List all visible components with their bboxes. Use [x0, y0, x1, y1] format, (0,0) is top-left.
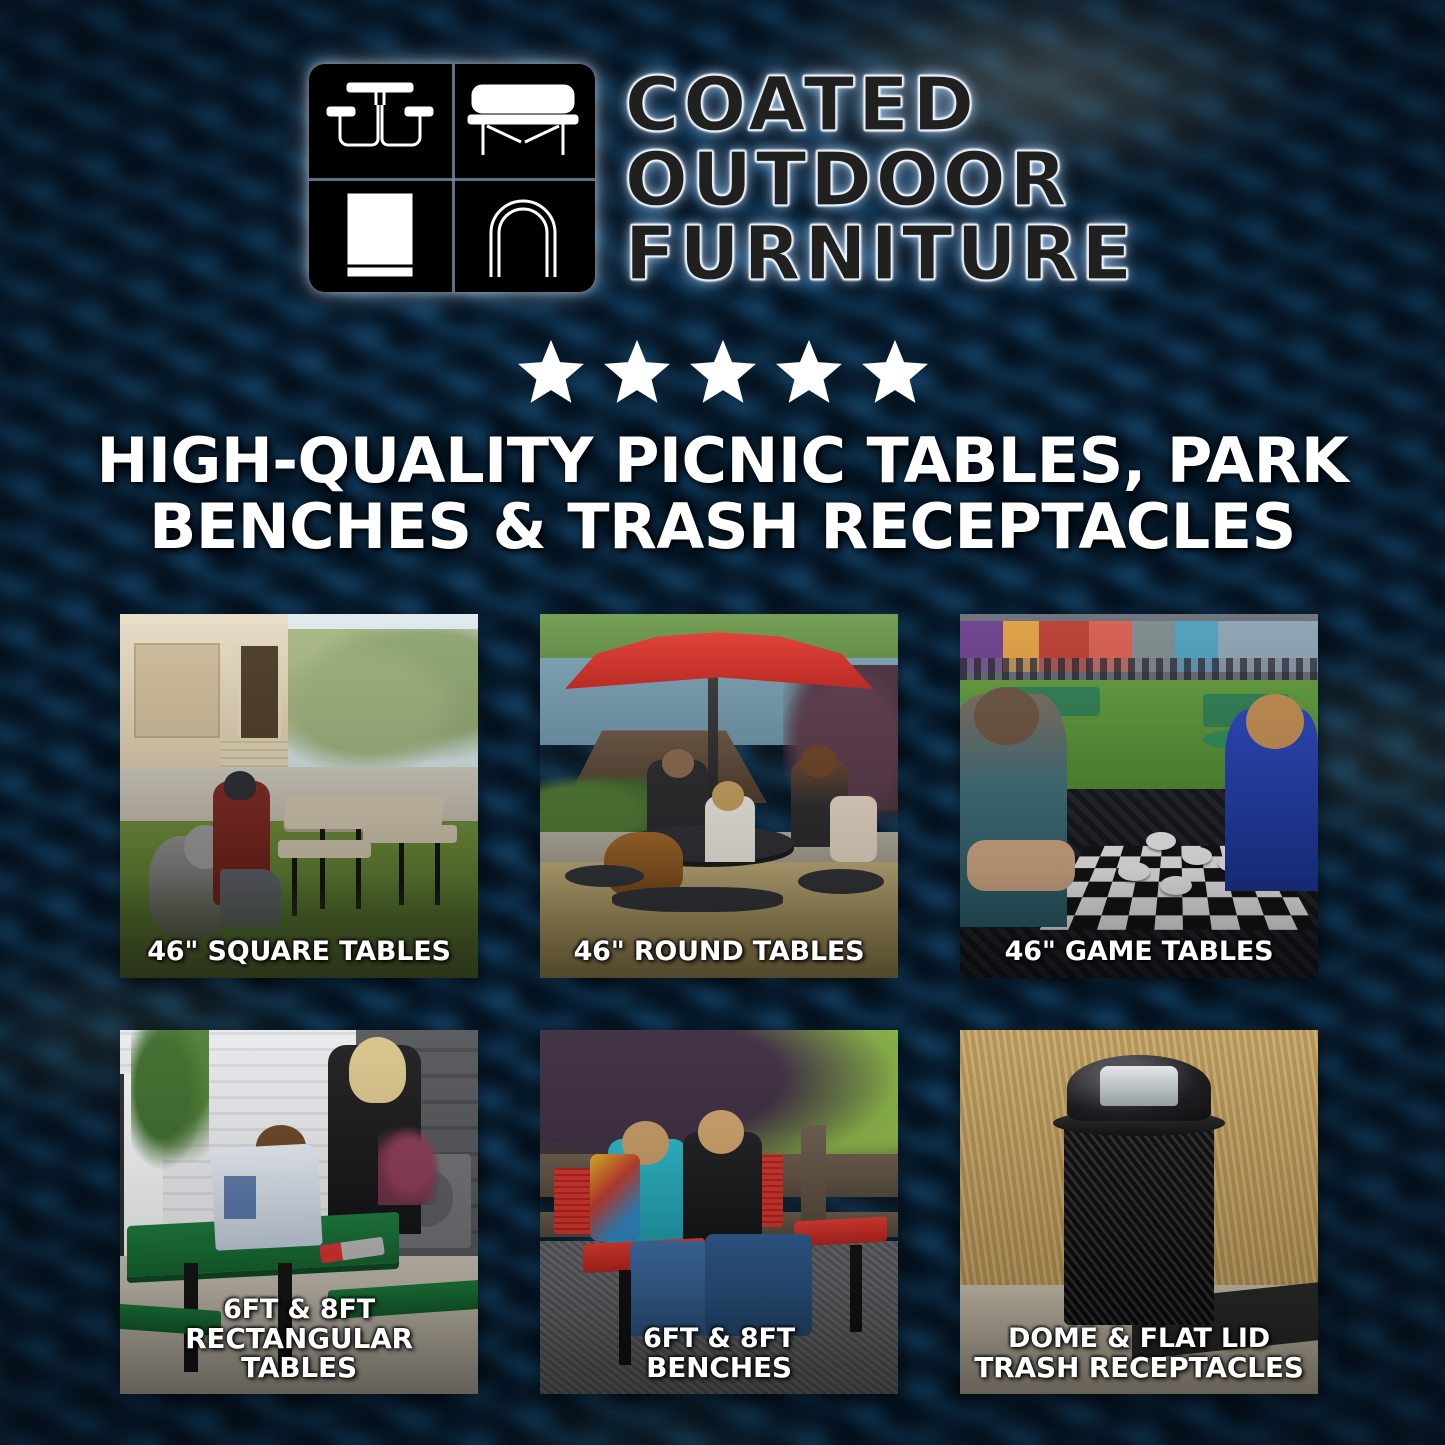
product-caption: DOME & FLAT LID TRASH RECEPTACLES	[966, 1325, 1312, 1382]
product-tile-benches[interactable]: 6FT & 8FT BENCHES	[540, 1030, 898, 1394]
rating-stars	[0, 336, 1445, 408]
brand-word-outdoor: OUTDOOR	[625, 144, 1136, 217]
star-icon	[773, 337, 845, 407]
product-caption: 46" ROUND TABLES	[546, 938, 892, 966]
star-icon	[859, 337, 931, 407]
product-caption-line-1: 6FT & 8FT	[643, 1323, 795, 1354]
bench-table-icon	[452, 64, 595, 178]
product-caption-line-2: BENCHES	[546, 1353, 892, 1382]
picnic-table-icon	[309, 64, 452, 178]
brand-word-coated: COATED	[625, 69, 1136, 142]
product-tile-square-tables[interactable]: 46" SQUARE TABLES	[120, 614, 478, 978]
headline-line-2: BENCHES & TRASH RECEPTACLES	[60, 494, 1385, 560]
bike-rack-icon	[452, 178, 595, 292]
brand-wordmark: COATED OUTDOOR FURNITURE	[625, 65, 1136, 291]
product-caption: 6FT & 8FT BENCHES	[546, 1325, 892, 1382]
product-tile-rectangular-tables[interactable]: 6FT & 8FT RECTANGULAR TABLES	[120, 1030, 478, 1394]
promo-graphic: COATED OUTDOOR FURNITURE HIGH-QUALITY PI…	[0, 0, 1445, 1445]
product-grid: 46" SQUARE TABLES	[120, 614, 1332, 1394]
product-photo	[540, 614, 898, 978]
product-caption: 6FT & 8FT RECTANGULAR TABLES	[126, 1296, 472, 1382]
product-caption-line-1: 6FT & 8FT	[223, 1294, 375, 1325]
headline-line-1: HIGH-QUALITY PICNIC TABLES, PARK	[60, 428, 1385, 494]
product-caption-line-1: 46" ROUND TABLES	[574, 936, 865, 967]
star-icon	[601, 337, 673, 407]
product-caption: 46" GAME TABLES	[966, 938, 1312, 966]
trash-receptacle-icon	[309, 178, 452, 292]
brand-logo: COATED OUTDOOR FURNITURE	[0, 58, 1445, 298]
star-icon	[515, 337, 587, 407]
product-caption-line-1: 46" GAME TABLES	[1005, 936, 1274, 967]
product-caption-line-2: RECTANGULAR TABLES	[126, 1324, 472, 1382]
product-caption-line-1: 46" SQUARE TABLES	[147, 936, 451, 967]
product-tile-round-tables[interactable]: 46" ROUND TABLES	[540, 614, 898, 978]
product-tile-game-tables[interactable]: 46" GAME TABLES	[960, 614, 1318, 978]
product-tile-trash-receptacles[interactable]: DOME & FLAT LID TRASH RECEPTACLES	[960, 1030, 1318, 1394]
product-caption-line-2: TRASH RECEPTACLES	[966, 1353, 1312, 1382]
headline: HIGH-QUALITY PICNIC TABLES, PARK BENCHES…	[60, 428, 1385, 559]
logo-icon-grid	[309, 64, 595, 292]
product-photo	[120, 614, 478, 978]
star-icon	[687, 337, 759, 407]
product-caption: 46" SQUARE TABLES	[126, 938, 472, 966]
product-caption-line-1: DOME & FLAT LID	[1008, 1323, 1270, 1354]
product-photo	[960, 614, 1318, 978]
brand-word-furniture: FURNITURE	[625, 218, 1136, 291]
